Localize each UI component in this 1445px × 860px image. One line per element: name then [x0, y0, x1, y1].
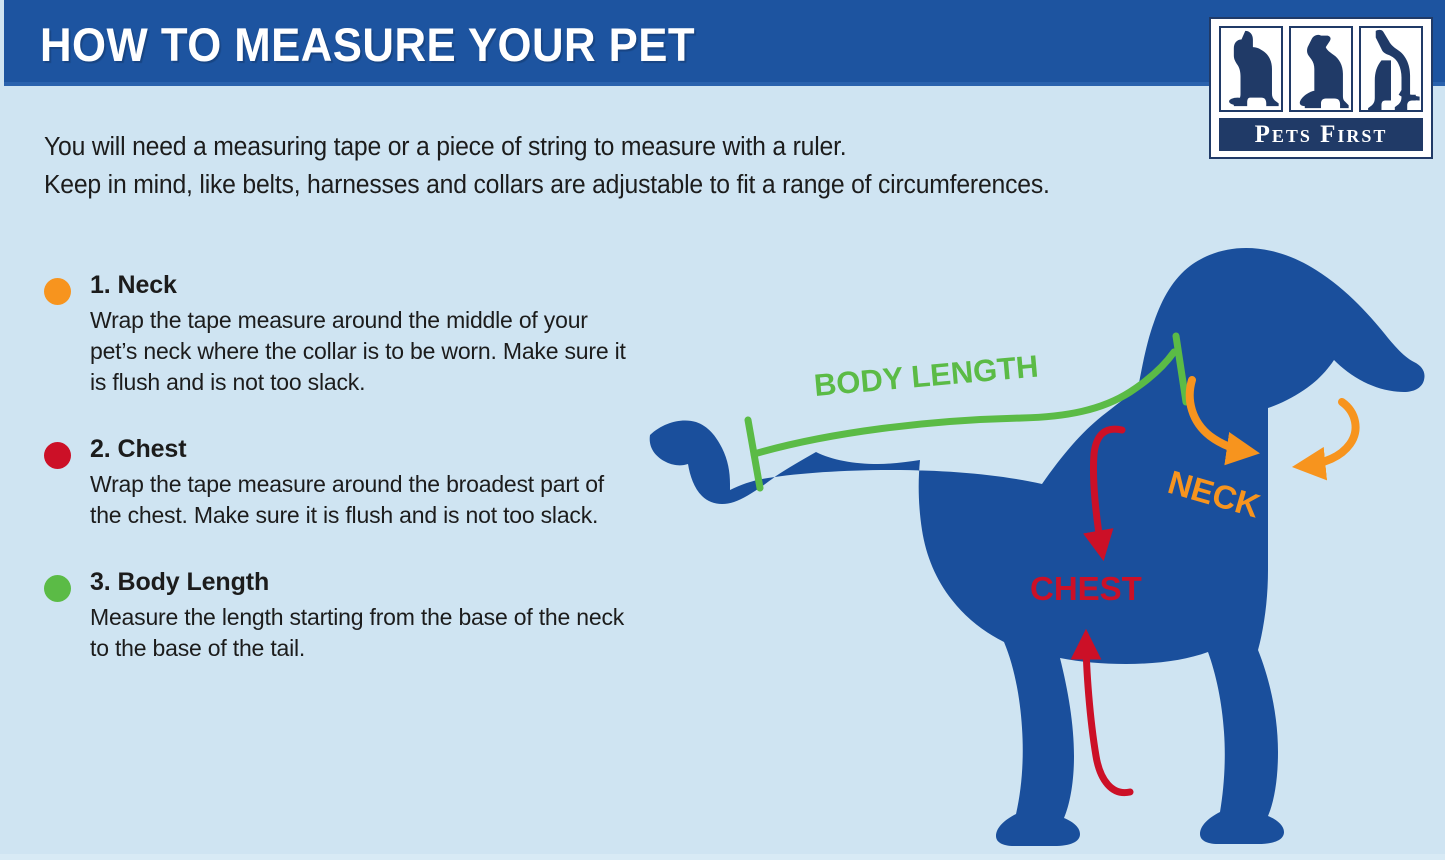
- measurement-steps-list: 1. Neck Wrap the tape measure around the…: [40, 268, 640, 698]
- dog-silhouette: [650, 248, 1425, 846]
- intro-line-2: Keep in mind, like belts, harnesses and …: [44, 166, 1160, 204]
- infographic-page: HOW TO MEASURE YOUR PET: [0, 0, 1445, 860]
- dog-sitting-icon: [1219, 26, 1283, 112]
- dog-shepherd-icon: [1359, 26, 1423, 112]
- step-title-body-length: 3. Body Length: [90, 565, 640, 599]
- label-chest: CHEST: [1030, 570, 1142, 607]
- logo-name-bar: Pets First: [1219, 118, 1423, 151]
- page-title: HOW TO MEASURE YOUR PET: [40, 17, 695, 72]
- logo-name: Pets First: [1255, 122, 1388, 147]
- dog-howling-icon: [1289, 26, 1353, 112]
- step-body-body-length: Measure the length starting from the bas…: [90, 602, 640, 664]
- step-item-chest: 2. Chest Wrap the tape measure around th…: [40, 432, 640, 531]
- step-body-neck: Wrap the tape measure around the middle …: [90, 305, 640, 398]
- step-title-neck: 1. Neck: [90, 268, 640, 302]
- step-item-neck: 1. Neck Wrap the tape measure around the…: [40, 268, 640, 398]
- bullet-body-length-icon: [44, 575, 71, 602]
- brand-logo: Pets First: [1209, 17, 1433, 159]
- step-title-chest: 2. Chest: [90, 432, 640, 466]
- intro-line-1: You will need a measuring tape or a piec…: [44, 128, 1160, 166]
- logo-panel-group: [1219, 26, 1423, 112]
- intro-text: You will need a measuring tape or a piec…: [44, 128, 1194, 204]
- label-body-length: BODY LENGTH: [813, 348, 1040, 402]
- step-body-chest: Wrap the tape measure around the broades…: [90, 469, 640, 531]
- bottom-edge-strip: [0, 854, 1445, 860]
- bullet-chest-icon: [44, 442, 71, 469]
- dog-measurement-diagram: BODY LENGTH NECK CHEST: [630, 240, 1445, 860]
- bullet-neck-icon: [44, 278, 71, 305]
- step-item-body-length: 3. Body Length Measure the length starti…: [40, 565, 640, 664]
